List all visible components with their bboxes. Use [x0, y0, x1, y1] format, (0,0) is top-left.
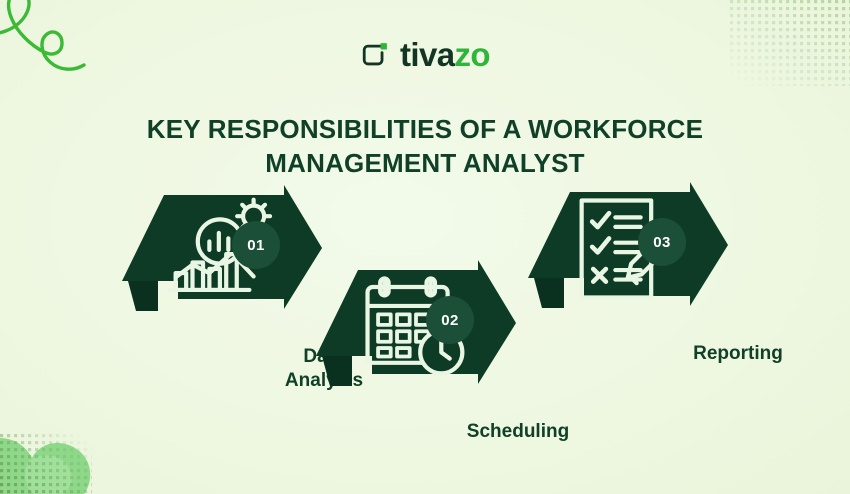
wordmark-zo: zo [455, 36, 490, 73]
step-number-badge-1: 01 [232, 221, 280, 269]
wordmark-tiva: tiva [400, 36, 454, 73]
arrow-banner-2: 02 [316, 268, 516, 386]
brand-wordmark: tivazo [400, 38, 490, 71]
step-item-data-analysis: 01 Data Analysis [122, 193, 322, 311]
arrow-banner-3: 03 [528, 190, 728, 308]
step-number-badge-2: 02 [426, 296, 474, 344]
step-label-3: Reporting [658, 342, 818, 366]
step-number-badge-3: 03 [638, 218, 686, 266]
page-title: KEY RESPONSIBILITIES OF A WORKFORCE MANA… [115, 112, 735, 181]
calendar-clock-icon [316, 268, 516, 386]
bar-chart-magnifier-gear-icon [122, 193, 322, 311]
step-item-reporting: 03 Reporting [528, 190, 728, 308]
infographic-canvas: tivazo KEY RESPONSIBILITIES OF A WORKFOR… [0, 0, 850, 494]
dot-grid-decoration-bottom-left [0, 434, 92, 494]
checklist-pencil-icon [528, 190, 728, 308]
step-item-scheduling: 02 Scheduling [316, 268, 516, 386]
tivazo-bracket-icon [360, 40, 390, 70]
step-label-2: Scheduling [438, 420, 598, 444]
leaf-blob-decoration [0, 400, 130, 494]
brand-logo: tivazo [0, 38, 850, 71]
arrow-banner-1: 01 [122, 193, 322, 311]
